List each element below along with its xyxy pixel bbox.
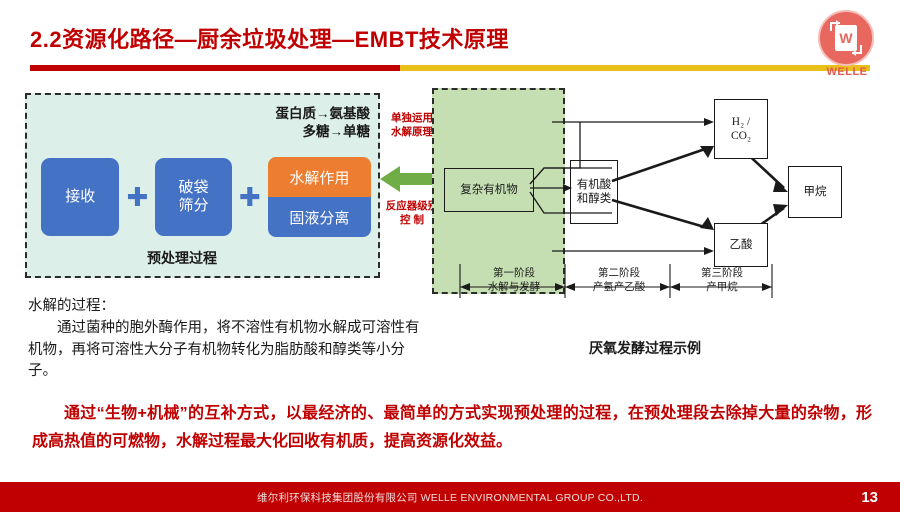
- stage-label-2: 第二阶段 产氢产乙酸: [567, 267, 671, 295]
- process-box-receive: 接收: [41, 158, 119, 236]
- node-organic-acids: 有机酸 和醇类: [570, 160, 618, 224]
- organic-acids-line-2: 和醇类: [577, 193, 612, 205]
- stage-2-line-1: 第二阶段: [567, 267, 671, 281]
- pretreatment-subtitle: 蛋白质→氨基酸 多糖→单糖: [276, 105, 371, 141]
- stage-label-1: 第一阶段 水解与发酵: [462, 267, 566, 295]
- process-box-bagbreak-screen: 破袋 筛分: [155, 158, 232, 236]
- recycle-arrows-icon: [823, 15, 869, 61]
- pretreatment-diagram: 蛋白质→氨基酸 多糖→单糖 接收 ✚ 破袋 筛分 ✚ 水解作用 固液分离 预处理…: [25, 93, 380, 278]
- welle-logo: W WELLE: [812, 10, 882, 76]
- node-complex-organics: 复杂有机物: [444, 168, 534, 212]
- h2-co2-line-2: CO₂: [731, 130, 751, 142]
- plus-icon-2: ✚: [232, 184, 268, 210]
- key-conclusion-paragraph: 通过“生物+机械”的互补方式，以最经济的、最简单的方式实现预处理的过程，在预处理…: [32, 400, 872, 456]
- page-number: 13: [861, 482, 878, 512]
- bagbreak-line-1: 破袋: [179, 179, 209, 196]
- subtitle-line-1: 蛋白质→氨基酸: [276, 105, 371, 123]
- node-acetic-acid: 乙酸: [714, 223, 768, 267]
- footer-bar: 维尔利环保科技集团股份有限公司 WELLE ENVIRONMENTAL GROU…: [0, 482, 900, 512]
- plus-icon-1: ✚: [119, 184, 155, 210]
- footer-company-name: 维尔利环保科技集团股份有限公司 WELLE ENVIRONMENTAL GROU…: [0, 482, 900, 512]
- h2-co2-line-1: H₂ /: [732, 116, 750, 128]
- organic-acids-line-1: 有机酸: [577, 179, 612, 191]
- page-title: 2.2资源化路径—厨余垃圾处理—EMBT技术原理: [30, 22, 509, 54]
- slide-root: 2.2资源化路径—厨余垃圾处理—EMBT技术原理 W WELLE 蛋白质→氨基酸…: [0, 0, 900, 512]
- anaerobic-diagram-caption: 厌氧发酵过程示例: [520, 338, 770, 358]
- title-underline: [30, 65, 870, 71]
- stage-1-line-1: 第一阶段: [462, 267, 566, 281]
- key-conclusion-text: 通过“生物+机械”的互补方式，以最经济的、最简单的方式实现预处理的过程，在预处理…: [32, 400, 872, 456]
- stage-2-line-2: 产氢产乙酸: [567, 281, 671, 295]
- stage-3-line-2: 产甲烷: [671, 281, 773, 295]
- process-box-solid-liquid-separation: 固液分离: [268, 197, 371, 237]
- subtitle-line-2: 多糖→单糖: [276, 123, 371, 141]
- bagbreak-line-2: 筛分: [179, 197, 209, 214]
- stage-1-line-2: 水解与发酵: [462, 281, 566, 295]
- hydrolysis-paragraph: 通过菌种的胞外酶作用，将不溶性有机物水解成可溶性有机物，再将可溶性大分子有机物转…: [28, 318, 428, 383]
- underline-red-segment: [30, 65, 400, 71]
- hydrolysis-heading: 水解的过程：: [28, 296, 428, 318]
- underline-gold-segment: [400, 65, 870, 71]
- process-flow-row: 接收 ✚ 破袋 筛分 ✚ 水解作用 固液分离: [41, 157, 371, 237]
- process-box-stacked: 水解作用 固液分离: [268, 157, 371, 237]
- process-box-hydrolysis: 水解作用: [268, 157, 371, 197]
- stage-label-3: 第三阶段 产甲烷: [671, 267, 773, 295]
- pretreatment-label: 预处理过程: [147, 248, 217, 268]
- anaerobic-digestion-diagram: 复杂有机物 有机酸 和醇类 H₂ / CO₂ 乙酸 甲烷 第一阶段 水解与发酵 …: [432, 88, 872, 303]
- logo-brand-text: WELLE: [812, 66, 882, 78]
- node-h2-co2: H₂ / CO₂: [714, 99, 768, 159]
- hydrolysis-description: 水解的过程： 通过菌种的胞外酶作用，将不溶性有机物水解成可溶性有机物，再将可溶性…: [28, 296, 428, 383]
- stage-3-line-1: 第三阶段: [671, 267, 773, 281]
- node-methane: 甲烷: [788, 166, 842, 218]
